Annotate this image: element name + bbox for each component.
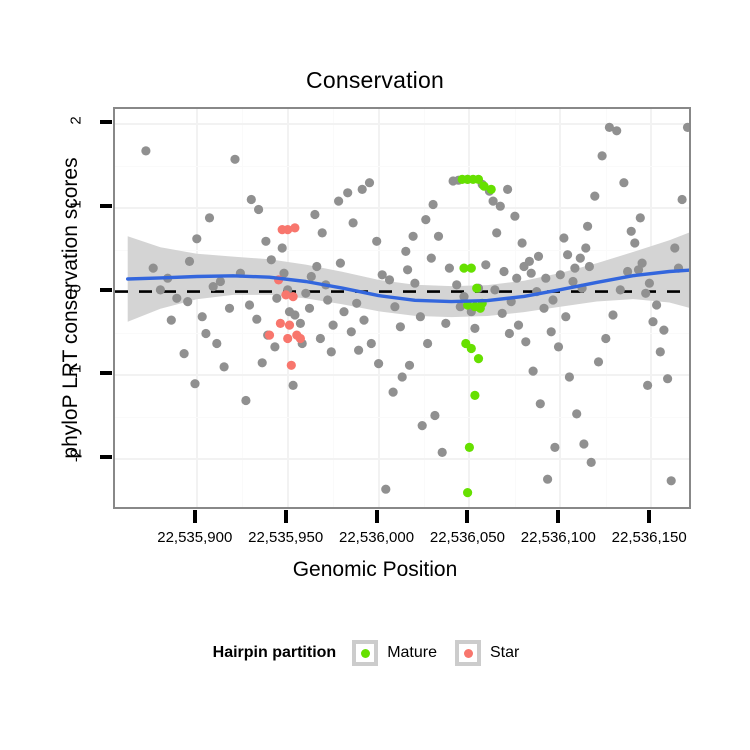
data-point bbox=[572, 409, 581, 418]
data-point bbox=[180, 349, 189, 358]
data-point bbox=[285, 321, 294, 330]
data-point bbox=[534, 252, 543, 261]
legend-label: Mature bbox=[387, 644, 437, 662]
data-point bbox=[490, 285, 499, 294]
data-point bbox=[283, 334, 292, 343]
conservation-chart-figure: Conservation -2-1012 22,535,90022,535,95… bbox=[0, 0, 750, 750]
data-point bbox=[474, 354, 483, 363]
data-point bbox=[452, 280, 461, 289]
data-point bbox=[318, 228, 327, 237]
data-point bbox=[678, 195, 687, 204]
data-point bbox=[541, 274, 550, 283]
legend-title: Hairpin partition bbox=[213, 644, 337, 662]
data-point bbox=[405, 361, 414, 370]
data-point bbox=[514, 321, 523, 330]
data-point bbox=[343, 188, 352, 197]
data-point bbox=[536, 399, 545, 408]
data-point bbox=[349, 218, 358, 227]
data-point bbox=[465, 443, 474, 452]
data-point bbox=[372, 237, 381, 246]
data-point bbox=[616, 285, 625, 294]
data-point bbox=[579, 439, 588, 448]
data-point bbox=[645, 279, 654, 288]
data-point bbox=[389, 388, 398, 397]
data-point bbox=[201, 329, 210, 338]
data-point bbox=[512, 274, 521, 283]
data-point bbox=[359, 316, 368, 325]
data-point bbox=[290, 223, 299, 232]
data-point bbox=[347, 327, 356, 336]
data-point bbox=[230, 155, 239, 164]
data-point bbox=[365, 178, 374, 187]
data-point bbox=[278, 243, 287, 252]
data-point bbox=[556, 270, 565, 279]
data-point bbox=[352, 299, 361, 308]
x-tick-mark bbox=[284, 510, 288, 523]
data-point bbox=[301, 289, 310, 298]
legend-key-box bbox=[352, 640, 378, 666]
data-point bbox=[339, 307, 348, 316]
data-point bbox=[385, 275, 394, 284]
data-point bbox=[305, 304, 314, 313]
data-point bbox=[492, 228, 501, 237]
x-tick-label: 22,536,150 bbox=[589, 529, 709, 546]
data-point bbox=[354, 346, 363, 355]
data-point bbox=[656, 347, 665, 356]
data-point bbox=[276, 319, 285, 328]
data-point bbox=[307, 272, 316, 281]
data-point bbox=[198, 312, 207, 321]
data-point bbox=[316, 334, 325, 343]
data-point bbox=[563, 250, 572, 259]
data-point bbox=[638, 259, 647, 268]
data-point bbox=[290, 310, 299, 319]
data-point bbox=[519, 262, 528, 271]
x-tick-mark bbox=[465, 510, 469, 523]
legend: Hairpin partition MatureStar bbox=[0, 640, 750, 666]
data-point bbox=[643, 381, 652, 390]
data-point bbox=[590, 192, 599, 201]
data-point bbox=[529, 367, 538, 376]
data-point bbox=[261, 237, 270, 246]
y-tick-mark bbox=[100, 204, 112, 208]
data-point bbox=[225, 304, 234, 313]
data-point bbox=[627, 227, 636, 236]
data-point bbox=[641, 289, 650, 298]
data-point bbox=[409, 232, 418, 241]
data-point bbox=[476, 304, 485, 313]
data-point bbox=[429, 200, 438, 209]
data-point bbox=[367, 339, 376, 348]
data-point bbox=[396, 322, 405, 331]
data-point bbox=[296, 319, 305, 328]
data-point bbox=[505, 329, 514, 338]
x-tick-mark bbox=[647, 510, 651, 523]
legend-label: Star bbox=[490, 644, 519, 662]
data-point bbox=[568, 277, 577, 286]
data-point bbox=[421, 215, 430, 224]
legend-item-star[interactable]: Star bbox=[455, 640, 519, 666]
data-point bbox=[220, 362, 229, 371]
data-point bbox=[185, 257, 194, 266]
data-point bbox=[403, 265, 412, 274]
data-point bbox=[487, 185, 496, 194]
data-point bbox=[358, 185, 367, 194]
data-point bbox=[247, 195, 256, 204]
data-point bbox=[594, 357, 603, 366]
legend-color-dot bbox=[464, 649, 473, 658]
data-point bbox=[539, 304, 548, 313]
data-point bbox=[585, 262, 594, 271]
data-point bbox=[550, 443, 559, 452]
data-point bbox=[467, 344, 476, 353]
data-point bbox=[598, 151, 607, 160]
data-point bbox=[167, 316, 176, 325]
data-point bbox=[570, 264, 579, 273]
data-point bbox=[172, 294, 181, 303]
data-point bbox=[659, 326, 668, 335]
data-point bbox=[329, 321, 338, 330]
data-point bbox=[398, 372, 407, 381]
data-point bbox=[245, 300, 254, 309]
data-point bbox=[216, 277, 225, 286]
data-point bbox=[336, 259, 345, 268]
data-point bbox=[141, 146, 150, 155]
data-point bbox=[258, 358, 267, 367]
data-point bbox=[499, 267, 508, 276]
data-point bbox=[374, 359, 383, 368]
data-point bbox=[183, 297, 192, 306]
data-point bbox=[561, 312, 570, 321]
legend-entries: MatureStar bbox=[352, 640, 537, 666]
data-point bbox=[156, 285, 165, 294]
data-point bbox=[498, 309, 507, 318]
x-tick-mark bbox=[375, 510, 379, 523]
data-point bbox=[601, 334, 610, 343]
plot-panel bbox=[113, 107, 691, 509]
data-point bbox=[559, 233, 568, 242]
x-axis-title: Genomic Position bbox=[0, 558, 750, 582]
data-point bbox=[192, 234, 201, 243]
data-point bbox=[518, 238, 527, 247]
y-tick-mark bbox=[100, 288, 112, 292]
data-point bbox=[472, 284, 481, 293]
data-point bbox=[418, 421, 427, 430]
data-point bbox=[470, 391, 479, 400]
data-point bbox=[667, 476, 676, 485]
data-point bbox=[252, 315, 261, 324]
data-point bbox=[630, 238, 639, 247]
data-point bbox=[581, 243, 590, 252]
data-point bbox=[296, 334, 305, 343]
data-point bbox=[334, 197, 343, 206]
data-point bbox=[543, 475, 552, 484]
data-point bbox=[427, 254, 436, 263]
data-point bbox=[467, 264, 476, 273]
data-point bbox=[636, 213, 645, 222]
data-point bbox=[521, 337, 530, 346]
data-point bbox=[270, 342, 279, 351]
data-point bbox=[416, 312, 425, 321]
data-point bbox=[445, 264, 454, 273]
data-point bbox=[381, 485, 390, 494]
legend-item-mature[interactable]: Mature bbox=[352, 640, 437, 666]
data-point bbox=[481, 260, 490, 269]
data-point bbox=[289, 292, 298, 301]
data-point bbox=[576, 254, 585, 263]
data-point bbox=[565, 372, 574, 381]
data-point bbox=[287, 361, 296, 370]
series-mature bbox=[458, 175, 496, 497]
data-point bbox=[496, 202, 505, 211]
data-point bbox=[619, 178, 628, 187]
legend-key-box bbox=[455, 640, 481, 666]
data-point bbox=[423, 339, 432, 348]
data-point bbox=[289, 381, 298, 390]
data-point bbox=[254, 205, 263, 214]
data-point bbox=[272, 294, 281, 303]
data-point bbox=[503, 185, 512, 194]
data-point bbox=[663, 374, 672, 383]
data-point bbox=[587, 458, 596, 467]
x-tick-mark bbox=[193, 510, 197, 523]
data-point bbox=[205, 213, 214, 222]
data-point bbox=[190, 379, 199, 388]
data-point bbox=[267, 255, 276, 264]
data-point bbox=[463, 488, 472, 497]
data-point bbox=[683, 123, 691, 132]
data-point bbox=[310, 210, 319, 219]
data-point bbox=[554, 342, 563, 351]
data-point bbox=[212, 339, 221, 348]
legend-color-dot bbox=[361, 649, 370, 658]
y-tick-mark bbox=[100, 371, 112, 375]
data-point bbox=[441, 319, 450, 328]
y-tick-mark bbox=[100, 120, 112, 124]
y-axis-title: phyloP LRT conservation scores bbox=[59, 107, 83, 509]
data-point bbox=[548, 295, 557, 304]
data-point bbox=[608, 310, 617, 319]
data-point bbox=[438, 448, 447, 457]
y-tick-mark bbox=[100, 455, 112, 459]
data-point bbox=[265, 331, 274, 340]
data-point bbox=[434, 232, 443, 241]
data-point bbox=[430, 411, 439, 420]
data-point bbox=[470, 324, 479, 333]
data-point bbox=[401, 247, 410, 256]
data-point bbox=[547, 327, 556, 336]
data-point bbox=[648, 317, 657, 326]
data-point bbox=[510, 212, 519, 221]
data-point bbox=[149, 264, 158, 273]
data-point bbox=[327, 347, 336, 356]
data-point bbox=[323, 295, 332, 304]
data-point bbox=[612, 126, 621, 135]
data-point bbox=[583, 222, 592, 231]
data-point bbox=[312, 262, 321, 271]
data-point bbox=[410, 279, 419, 288]
x-tick-mark bbox=[556, 510, 560, 523]
data-point bbox=[652, 300, 661, 309]
data-point bbox=[390, 302, 399, 311]
plot-area bbox=[115, 109, 691, 509]
data-point bbox=[670, 243, 679, 252]
chart-title: Conservation bbox=[0, 67, 750, 94]
data-point bbox=[527, 269, 536, 278]
data-point bbox=[241, 396, 250, 405]
